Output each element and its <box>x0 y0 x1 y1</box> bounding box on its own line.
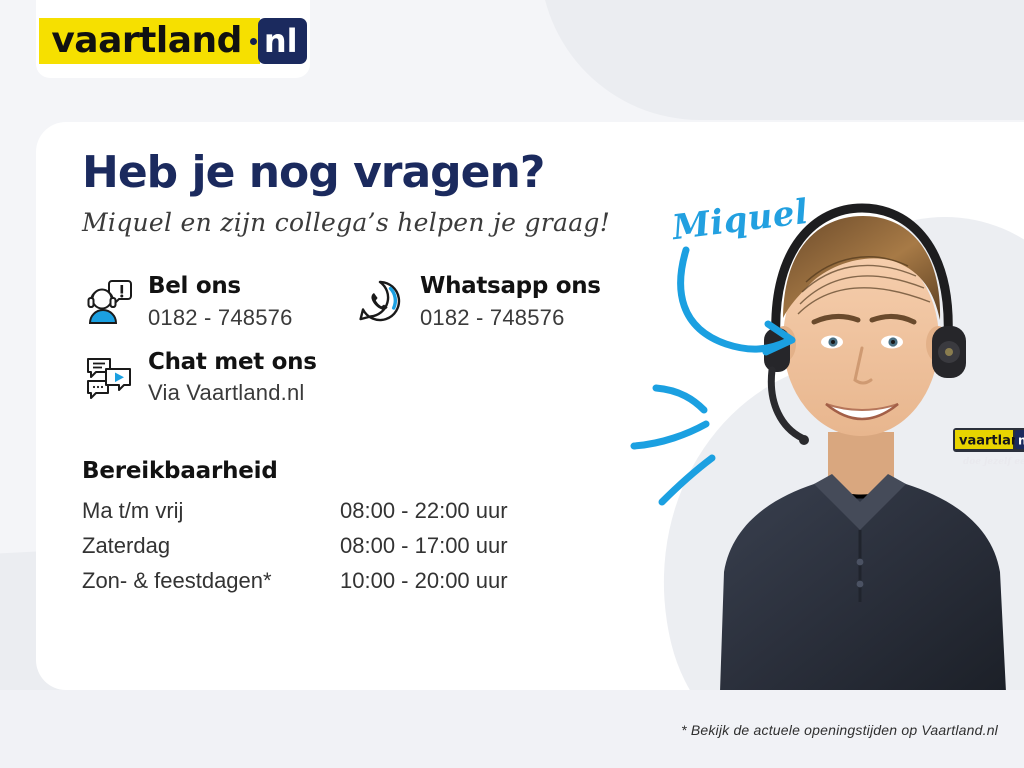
availability-section: Bereikbaarheid Ma t/m vrij 08:00 - 22:00… <box>82 458 642 594</box>
availability-day: Zaterdag <box>82 533 340 559</box>
availability-day: Ma t/m vrij <box>82 498 340 524</box>
contact-call-text: Bel ons 0182 - 748576 <box>148 273 293 330</box>
availability-title: Bereikbaarheid <box>82 458 642 484</box>
footnote: * Bekijk de actuele openingstijden op Va… <box>0 722 1024 738</box>
headset-person-icon <box>82 275 134 327</box>
brand-logo-card[interactable]: vaartland nl <box>36 0 310 78</box>
table-row: Zon- & feestdagen* 10:00 - 20:00 uur <box>82 568 642 594</box>
logo-tld: nl <box>258 18 307 64</box>
availability-hours: 10:00 - 20:00 uur <box>340 568 508 594</box>
contact-call-title: Bel ons <box>148 273 293 299</box>
chat-bubbles-icon <box>82 351 134 403</box>
contact-whatsapp[interactable]: Whatsapp ons 0182 - 748576 <box>354 273 626 330</box>
contact-row-top: Bel ons 0182 - 748576 Whatsapp on <box>82 273 642 330</box>
svg-text:nl: nl <box>1018 434 1024 448</box>
svg-text:doe jezelf een plezier: doe jezelf een plezier <box>963 457 1024 467</box>
contact-call-value[interactable]: 0182 - 748576 <box>148 305 293 331</box>
promo-banner: vaartland nl Heb je nog vragen? Miquel e… <box>0 0 1024 768</box>
background-shape-top-right <box>540 0 1024 120</box>
contact-call[interactable]: Bel ons 0182 - 748576 <box>82 273 354 330</box>
contact-whatsapp-value[interactable]: 0182 - 748576 <box>420 305 601 331</box>
logo-wordmark: vaartland <box>39 18 250 64</box>
contact-chat-title: Chat met ons <box>148 349 317 375</box>
svg-text:vaartland: vaartland <box>959 434 1024 449</box>
contact-chat-text: Chat met ons Via Vaartland.nl <box>148 349 317 406</box>
availability-table: Ma t/m vrij 08:00 - 22:00 uur Zaterdag 0… <box>82 498 642 594</box>
contact-whatsapp-title: Whatsapp ons <box>420 273 601 299</box>
agent-photo-area: vaartland nl doe jezelf een plezier Miqu… <box>620 122 1024 690</box>
whatsapp-phone-bubble-icon <box>354 275 406 327</box>
table-row: Zaterdag 08:00 - 17:00 uur <box>82 533 642 559</box>
table-row: Ma t/m vrij 08:00 - 22:00 uur <box>82 498 642 524</box>
availability-hours: 08:00 - 22:00 uur <box>340 498 508 524</box>
contact-chat[interactable]: Chat met ons Via Vaartland.nl <box>82 349 642 406</box>
page-title: Heb je nog vragen? <box>82 150 642 196</box>
contact-chat-value[interactable]: Via Vaartland.nl <box>148 380 317 406</box>
page-subtitle: Miquel en zijn collega’s helpen je graag… <box>82 208 642 237</box>
availability-day: Zon- & feestdagen* <box>82 568 340 594</box>
curved-arrow-right-icon <box>640 232 820 367</box>
content-column: Heb je nog vragen? Miquel en zijn colleg… <box>82 150 642 603</box>
availability-hours: 08:00 - 17:00 uur <box>340 533 508 559</box>
emphasis-lines-icon <box>628 362 758 527</box>
vaartland-logo[interactable]: vaartland nl <box>39 18 306 64</box>
contact-methods: Bel ons 0182 - 748576 Whatsapp on <box>82 273 642 406</box>
contact-whatsapp-text: Whatsapp ons 0182 - 748576 <box>420 273 601 330</box>
